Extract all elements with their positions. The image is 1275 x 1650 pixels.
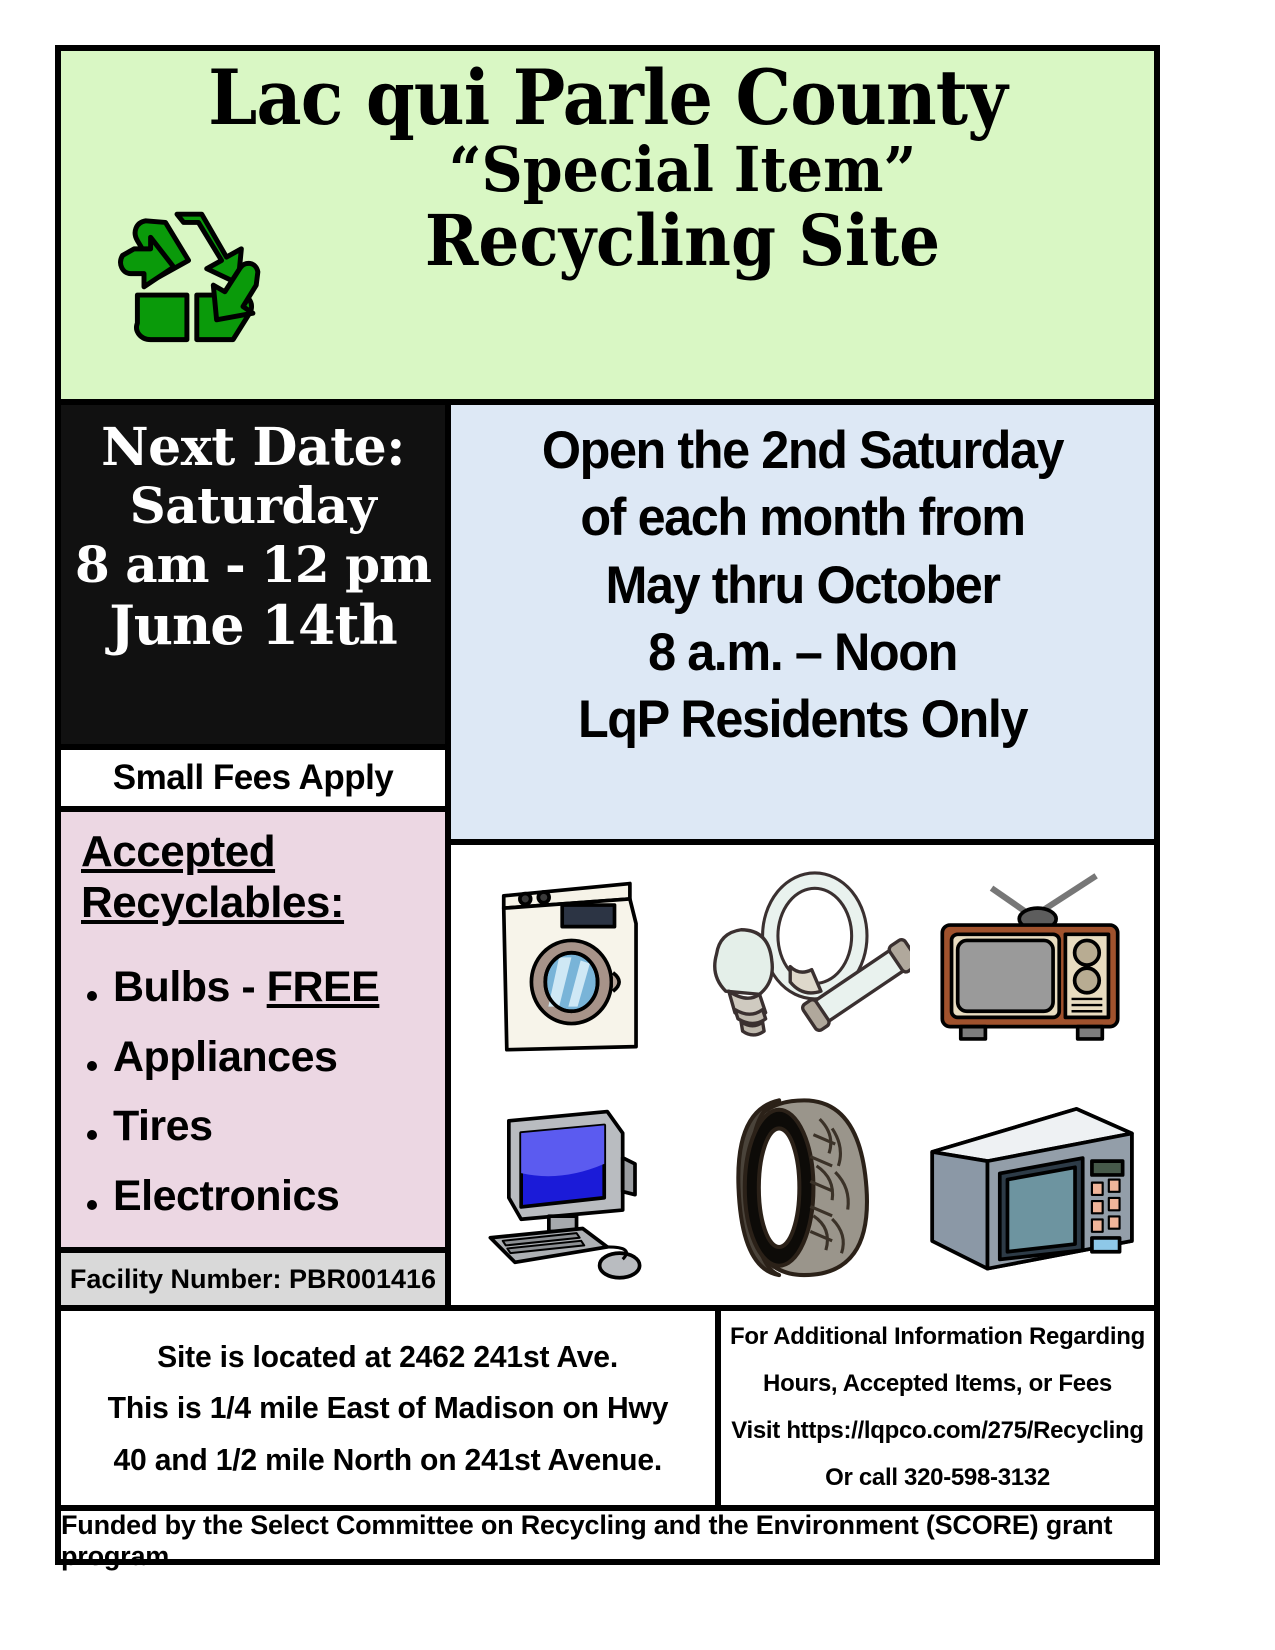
next-date-label: Next Date: [67,419,439,477]
left-column: Next Date: Saturday 8 am - 12 pm June 14… [61,405,451,1305]
list-item-label: Electronics [113,1162,339,1232]
hours-line-2: of each month from [469,484,1137,551]
hours-line-5: LqP Residents Only [469,686,1137,753]
poster-title: Lac qui Parle County [105,59,1111,137]
list-item-label: Tires [113,1092,213,1162]
tire-cell [715,1091,890,1286]
poster-header: Lac qui Parle County “Special Item” Recy… [61,51,1154,405]
light-bulbs-cell [695,862,910,1062]
bullet-icon [87,1061,97,1071]
television-cell [930,867,1130,1057]
next-date-date: June 14th [67,594,439,656]
poster-subtitle-special-item: “Special Item” [249,137,1117,202]
additional-info-panel: For Additional Information Regarding Hou… [721,1311,1154,1505]
next-date-panel: Next Date: Saturday 8 am - 12 pm June 14… [61,405,445,750]
info-line-2: Hours, Accepted Items, or Fees [763,1361,1112,1408]
middle-band: Next Date: Saturday 8 am - 12 pm June 14… [61,405,1154,1305]
television-icon [930,867,1130,1057]
hours-line-3: May thru October [469,552,1137,619]
microwave-cell [923,1098,1138,1278]
washing-machine-icon [482,862,667,1062]
next-date-time: 8 am - 12 pm [67,535,439,594]
location-line-1: Site is located at 2462 241st Ave. [158,1331,619,1382]
info-phone-line: Or call 320-598-3132 [825,1455,1050,1502]
info-line-1: For Additional Information Regarding [730,1314,1145,1361]
washing-machine-cell [482,862,667,1062]
bullet-icon [87,1130,97,1140]
funding-footer: Funded by the Select Committee on Recycl… [61,1505,1154,1571]
desktop-computer-cell [475,1096,675,1281]
list-item: Appliances [81,1023,445,1093]
info-website-line[interactable]: Visit https://lqpco.com/275/Recycling [731,1408,1144,1455]
accepted-heading-line1: Accepted [81,827,275,876]
bottom-band: Site is located at 2462 241st Ave. This … [61,1305,1154,1505]
hours-panel: Open the 2nd Saturday of each month from… [451,405,1154,845]
accepted-recyclables-list: Bulbs - FREE Appliances Tires Electronic… [81,953,445,1232]
list-item-emphasis: FREE [267,963,380,1011]
location-line-2: This is 1/4 mile East of Madison on Hwy [108,1382,669,1433]
list-item-label: Appliances [113,1023,337,1093]
recycling-flyer: Lac qui Parle County “Special Item” Recy… [55,45,1160,1565]
hours-line-1: Open the 2nd Saturday [469,417,1137,484]
accepted-items-images [451,845,1154,1305]
accepted-recyclables-panel: Accepted Recyclables: Bulbs - FREE Appli… [61,812,445,1253]
microwave-icon [923,1098,1138,1278]
small-fees-banner: Small Fees Apply [61,750,445,812]
poster-subtitle-recycling-site: Recycling Site [249,204,1117,278]
list-item: Bulbs - FREE [81,953,445,1023]
accepted-recyclables-heading: Accepted Recyclables: [81,826,445,929]
bullet-icon [87,991,97,1001]
light-bulbs-icon [695,862,910,1062]
location-panel: Site is located at 2462 241st Ave. This … [61,1311,721,1505]
right-column: Open the 2nd Saturday of each month from… [451,405,1154,1305]
bullet-icon [87,1200,97,1210]
location-line-3: 40 and 1/2 mile North on 241st Avenue. [114,1434,663,1485]
next-date-day: Saturday [67,477,439,535]
recycling-symbol-icon [111,196,276,371]
list-item: Tires [81,1092,445,1162]
list-item: Electronics [81,1162,445,1232]
tire-icon [715,1091,890,1286]
accepted-heading-line2: Recyclables: [81,878,344,927]
desktop-computer-icon [475,1096,675,1281]
facility-number-strip: Facility Number: PBR001416 [61,1253,445,1305]
list-item-label: Bulbs - [113,963,267,1011]
hours-line-4: 8 a.m. – Noon [469,619,1137,686]
